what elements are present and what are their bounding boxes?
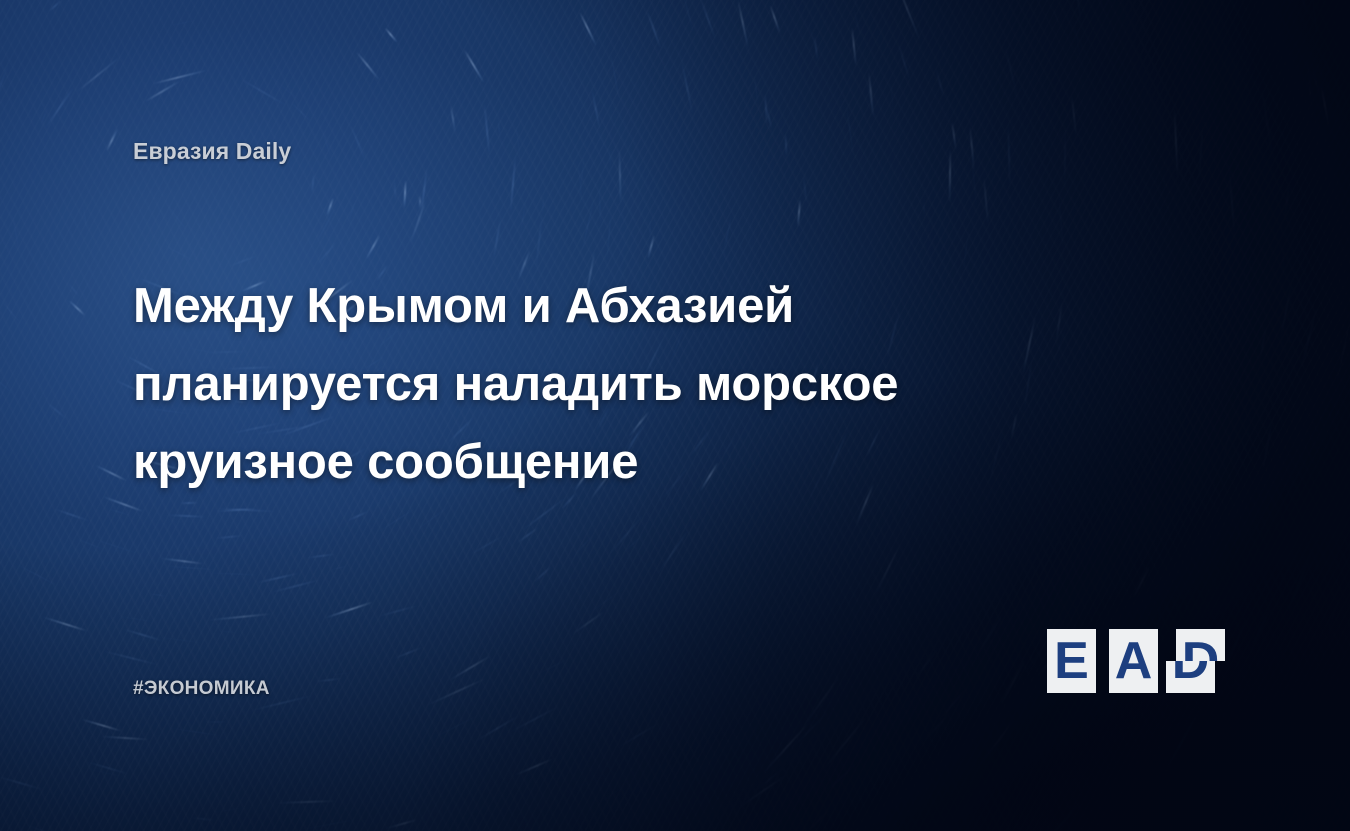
card-content: Евразия Daily Между Крымом и Абхазией пл… (0, 0, 1350, 831)
category-hashtag: #ЭКОНОМИКА (133, 678, 270, 700)
ead-logo: E A D D (1047, 629, 1221, 693)
logo-letter-d-bottom-half: D (1166, 661, 1215, 693)
logo-tile-a: A (1109, 629, 1158, 693)
article-share-card: Евразия Daily Между Крымом и Абхазией пл… (0, 0, 1350, 831)
logo-tile-d: D D (1171, 629, 1220, 693)
logo-letter-d-bottom-glyph: D (1166, 661, 1215, 693)
source-label: Евразия Daily (133, 138, 291, 165)
logo-letter-e: E (1047, 629, 1096, 693)
page-title: Между Крымом и Абхазией планируется нала… (133, 267, 1013, 501)
logo-letter-d-top-half: D (1176, 629, 1225, 661)
logo-letter-d-top-glyph: D (1176, 629, 1225, 661)
logo-letter-a: A (1109, 629, 1158, 693)
logo-tile-e: E (1047, 629, 1096, 693)
